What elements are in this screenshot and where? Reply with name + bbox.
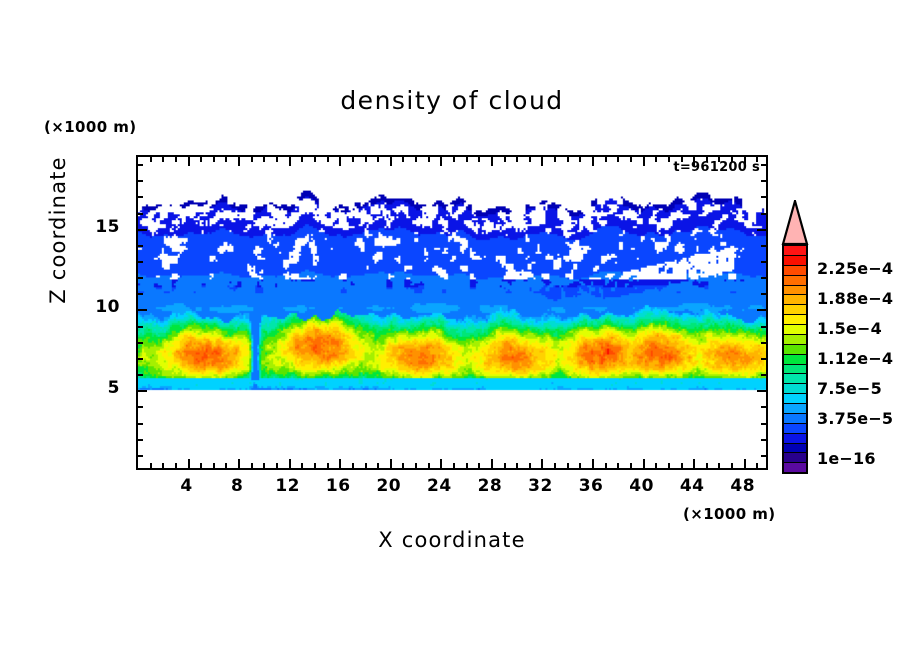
y-tick: [138, 180, 143, 182]
x-tick: [440, 459, 442, 468]
x-tick: [466, 463, 468, 468]
x-tick-top: [352, 157, 354, 162]
x-tick: [162, 463, 164, 468]
x-tick-top: [225, 157, 227, 162]
y-tick-right: [761, 213, 766, 215]
y-tick-right: [761, 261, 766, 263]
colorbar-arrow-cap: [781, 200, 809, 245]
x-tick-label: 4: [165, 476, 209, 496]
x-tick: [377, 463, 379, 468]
x-tick: [289, 459, 291, 468]
x-tick-top: [579, 157, 581, 162]
x-tick: [263, 463, 265, 468]
colorbar-band: [784, 266, 806, 276]
x-tick: [504, 463, 506, 468]
x-tick: [643, 459, 645, 468]
colorbar-band: [784, 286, 806, 296]
y-tick-right: [761, 180, 766, 182]
x-tick-label: 32: [518, 476, 562, 496]
y-tick: [138, 277, 143, 279]
x-tick-top: [630, 157, 632, 162]
y-tick-right: [761, 164, 766, 166]
x-tick-top: [415, 157, 417, 162]
colorbar-band: [784, 453, 806, 463]
x-tick-top: [289, 157, 291, 166]
x-tick: [693, 459, 695, 468]
x-tick: [200, 463, 202, 468]
x-tick-top: [491, 157, 493, 166]
colorbar-label: 3.75e−5: [817, 409, 893, 428]
colorbar-band: [784, 335, 806, 345]
colorbar-band: [784, 256, 806, 266]
colorbar-band: [784, 404, 806, 414]
x-tick: [188, 459, 190, 468]
x-tick-top: [428, 157, 430, 162]
y-tick: [138, 245, 143, 247]
x-tick-top: [339, 157, 341, 166]
x-tick: [276, 463, 278, 468]
colorbar-band: [784, 414, 806, 424]
x-tick-top: [263, 157, 265, 162]
x-tick-top: [605, 157, 607, 162]
x-tick-top: [440, 157, 442, 166]
x-tick-top: [516, 157, 518, 162]
y-tick: [138, 229, 147, 231]
x-tick-top: [327, 157, 329, 162]
colorbar-band: [784, 463, 806, 472]
x-tick-top: [188, 157, 190, 166]
x-tick-top: [453, 157, 455, 162]
x-tick-top: [251, 157, 253, 162]
y-tick: [138, 358, 143, 360]
x-tick: [592, 459, 594, 468]
x-tick: [731, 463, 733, 468]
x-tick: [516, 463, 518, 468]
x-tick-top: [213, 157, 215, 162]
x-tick-top: [390, 157, 392, 166]
y-tick: [138, 261, 143, 263]
x-tick-label: 12: [266, 476, 310, 496]
colorbar-band: [784, 384, 806, 394]
x-tick: [655, 463, 657, 468]
x-tick-label: 20: [367, 476, 411, 496]
x-tick: [478, 463, 480, 468]
x-tick-top: [162, 157, 164, 162]
x-tick-top: [466, 157, 468, 162]
page-title: density of cloud: [0, 86, 904, 115]
colorbar-band: [784, 305, 806, 315]
x-tick-top: [655, 157, 657, 162]
x-tick-top: [377, 157, 379, 162]
colorbar-label: 1.88e−4: [817, 289, 893, 308]
y-tick-right: [757, 390, 766, 392]
y-tick: [138, 406, 143, 408]
y-tick: [138, 164, 143, 166]
x-tick: [681, 463, 683, 468]
y-tick-right: [761, 196, 766, 198]
y-tick-right: [761, 455, 766, 457]
colorbar-band: [784, 325, 806, 335]
figure-root: density of cloud (×1000 m) (×1000 m) X c…: [0, 0, 904, 654]
colorbar: 2.25e−41.88e−41.5e−41.12e−47.5e−53.75e−5…: [781, 200, 815, 475]
colorbar-band: [784, 295, 806, 305]
x-tick: [238, 459, 240, 468]
x-tick-top: [668, 157, 670, 162]
x-tick-label: 28: [468, 476, 512, 496]
x-tick: [554, 463, 556, 468]
colorbar-bands: [782, 244, 808, 474]
x-tick-top: [529, 157, 531, 162]
x-tick: [225, 463, 227, 468]
plot-area: t=961200 s: [136, 155, 768, 470]
x-tick-top: [567, 157, 569, 162]
x-tick-top: [238, 157, 240, 166]
y-tick: [138, 309, 147, 311]
x-tick-top: [150, 157, 152, 162]
y-tick: [138, 390, 147, 392]
x-tick: [579, 463, 581, 468]
x-tick: [668, 463, 670, 468]
x-tick: [617, 463, 619, 468]
x-tick: [390, 459, 392, 468]
x-tick: [428, 463, 430, 468]
x-tick: [314, 463, 316, 468]
y-tick-right: [761, 342, 766, 344]
y-tick: [138, 342, 143, 344]
x-tick: [339, 459, 341, 468]
y-tick-label: 10: [60, 297, 120, 317]
colorbar-band: [784, 276, 806, 286]
x-axis-title: X coordinate: [0, 528, 904, 552]
x-tick: [352, 463, 354, 468]
y-tick: [138, 326, 143, 328]
colorbar-band: [784, 365, 806, 375]
x-tick: [327, 463, 329, 468]
x-tick-top: [554, 157, 556, 162]
x-tick-top: [200, 157, 202, 162]
y-tick-right: [761, 245, 766, 247]
y-tick-right: [757, 229, 766, 231]
x-tick: [213, 463, 215, 468]
colorbar-band: [784, 345, 806, 355]
y-tick: [138, 374, 143, 376]
y-tick: [138, 213, 143, 215]
y-tick: [138, 439, 143, 441]
colorbar-band: [784, 315, 806, 325]
x-tick: [301, 463, 303, 468]
x-tick-label: 16: [316, 476, 360, 496]
x-tick-top: [504, 157, 506, 162]
colorbar-band: [784, 394, 806, 404]
colorbar-label: 2.25e−4: [817, 259, 893, 278]
y-tick-right: [761, 439, 766, 441]
x-tick-label: 44: [670, 476, 714, 496]
colorbar-label: 1e−16: [817, 449, 876, 468]
x-tick: [718, 463, 720, 468]
x-tick-label: 48: [721, 476, 765, 496]
x-tick-label: 36: [569, 476, 613, 496]
y-tick-right: [757, 309, 766, 311]
y-tick-right: [761, 277, 766, 279]
y-tick-label: 5: [60, 378, 120, 398]
x-tick: [415, 463, 417, 468]
x-tick-top: [592, 157, 594, 166]
x-tick-top: [365, 157, 367, 162]
x-tick: [541, 459, 543, 468]
x-tick: [567, 463, 569, 468]
y-tick-right: [761, 293, 766, 295]
x-tick-top: [402, 157, 404, 162]
x-tick-top: [276, 157, 278, 162]
x-tick-top: [617, 157, 619, 162]
x-tick-top: [478, 157, 480, 162]
x-tick-top: [314, 157, 316, 162]
colorbar-band: [784, 434, 806, 444]
x-axis-unit-label: (×1000 m): [683, 505, 775, 523]
y-tick-right: [761, 326, 766, 328]
x-tick-top: [175, 157, 177, 162]
x-tick: [402, 463, 404, 468]
colorbar-band: [784, 355, 806, 365]
x-tick-label: 8: [215, 476, 259, 496]
time-annotation: t=961200 s: [673, 160, 760, 175]
y-tick-right: [761, 358, 766, 360]
x-tick: [605, 463, 607, 468]
x-tick-label: 24: [417, 476, 461, 496]
x-tick: [630, 463, 632, 468]
x-tick-top: [301, 157, 303, 162]
y-tick-label: 15: [60, 217, 120, 237]
y-tick: [138, 196, 143, 198]
x-tick: [453, 463, 455, 468]
colorbar-label: 1.5e−4: [817, 319, 882, 338]
x-tick-top: [643, 157, 645, 166]
colorbar-band: [784, 374, 806, 384]
x-tick: [744, 459, 746, 468]
y-tick-right: [761, 423, 766, 425]
y-tick: [138, 455, 143, 457]
x-tick: [175, 463, 177, 468]
x-tick: [756, 463, 758, 468]
colorbar-label: 1.12e−4: [817, 349, 893, 368]
colorbar-band: [784, 444, 806, 454]
colorbar-band: [784, 246, 806, 256]
colorbar-label: 7.5e−5: [817, 379, 882, 398]
colorbar-band: [784, 424, 806, 434]
x-tick: [529, 463, 531, 468]
x-tick: [365, 463, 367, 468]
x-tick: [706, 463, 708, 468]
x-tick: [150, 463, 152, 468]
y-tick: [138, 423, 143, 425]
x-tick-top: [541, 157, 543, 166]
x-tick: [251, 463, 253, 468]
x-tick-label: 40: [620, 476, 664, 496]
y-tick-right: [761, 406, 766, 408]
contour-plot-canvas: [138, 157, 766, 468]
y-tick: [138, 293, 143, 295]
y-tick-right: [761, 374, 766, 376]
x-tick: [491, 459, 493, 468]
